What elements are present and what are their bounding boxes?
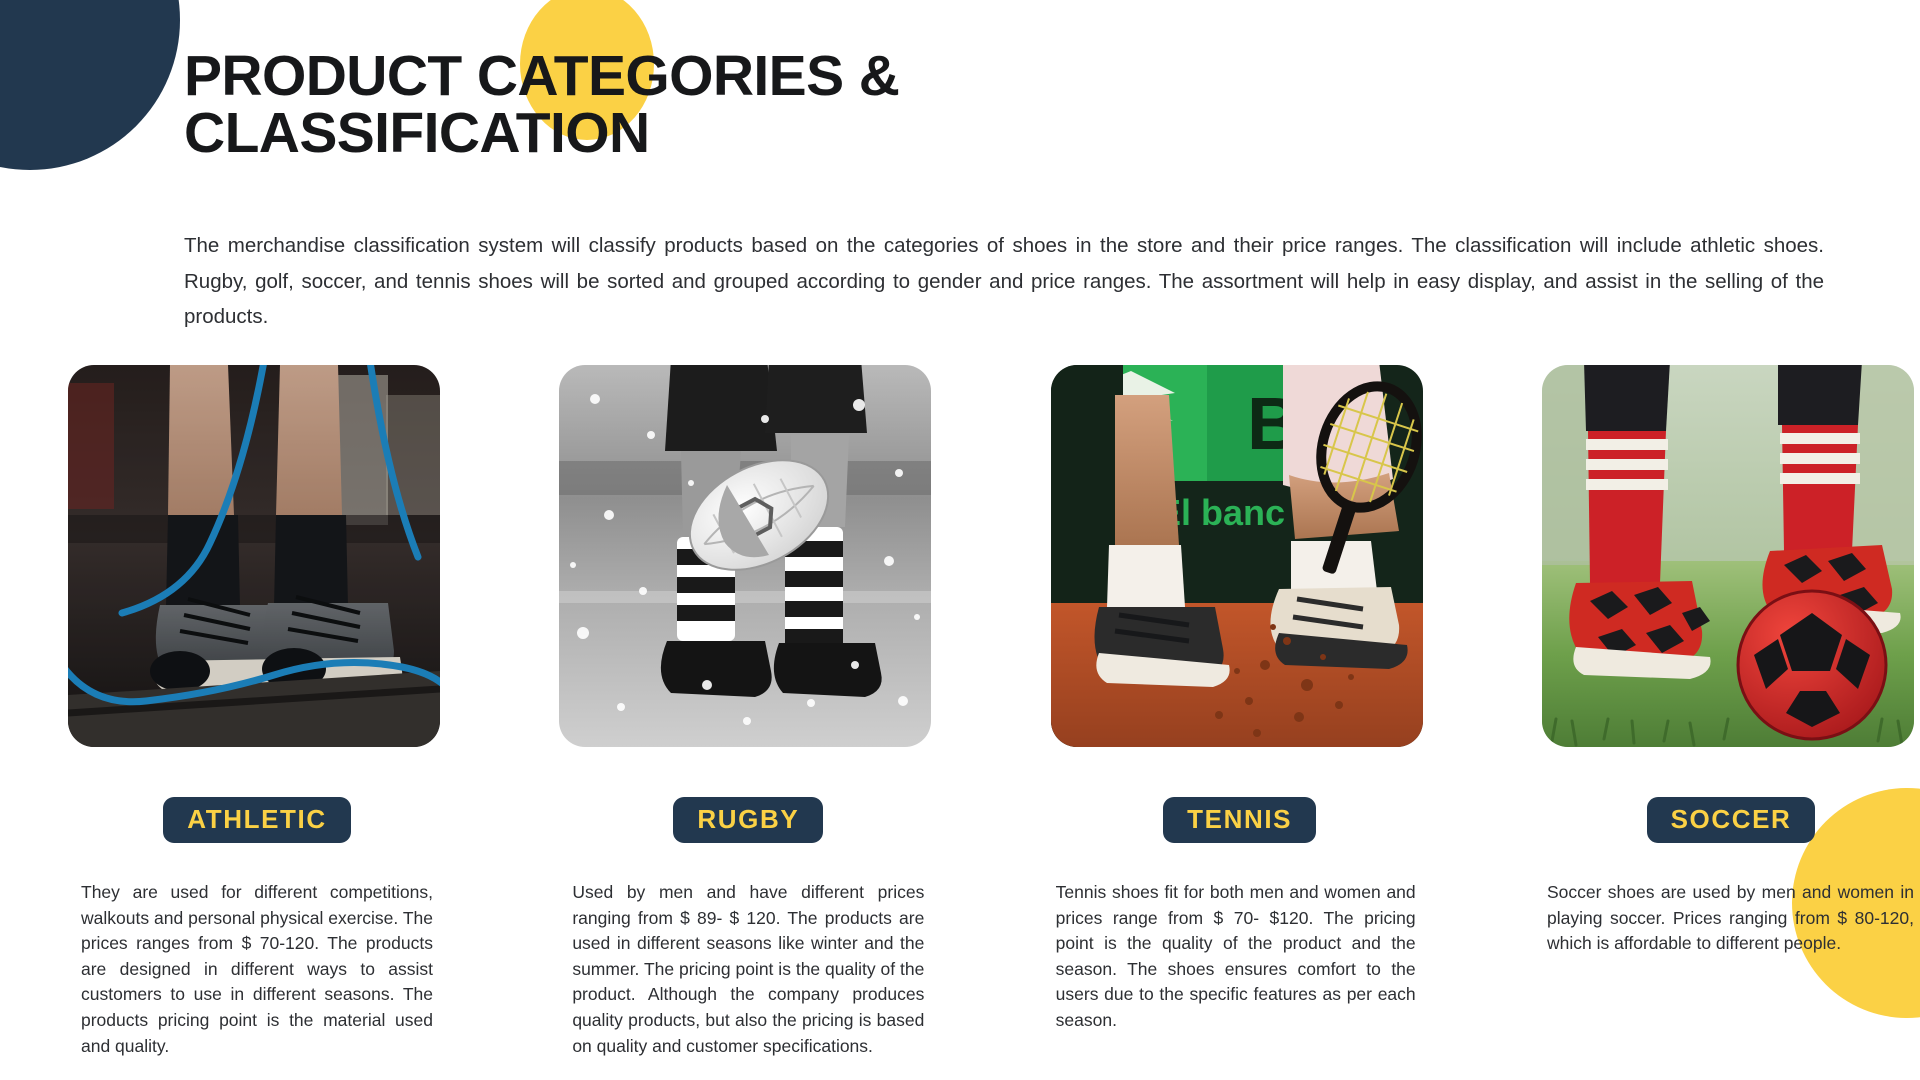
category-badge-rugby: RUGBY (673, 797, 823, 843)
category-card-soccer: SOCCER Soccer shoes are used by men and … (1542, 365, 1920, 1059)
card-description-tennis: Tennis shoes fit for both men and women … (1051, 880, 1429, 1034)
category-card-list: ATHLETIC They are used for different com… (68, 365, 1920, 1059)
badge-row: TENNIS (1051, 797, 1429, 843)
badge-row: RUGBY (559, 797, 937, 843)
category-card-athletic: ATHLETIC They are used for different com… (68, 365, 446, 1059)
page-title: PRODUCT CATEGORIES & CLASSIFICATION (184, 48, 1164, 162)
page-title-line-1: PRODUCT CATEGORIES & (184, 48, 1164, 105)
card-description-rugby: Used by men and have different prices ra… (559, 880, 937, 1059)
category-badge-tennis: TENNIS (1163, 797, 1316, 843)
badge-row: SOCCER (1542, 797, 1920, 843)
athletic-shoes-photo (68, 365, 440, 747)
soccer-shoes-photo (1542, 365, 1914, 747)
tennis-shoes-photo: BN El banc (1051, 365, 1423, 747)
navy-corner-circle (0, 0, 180, 170)
card-description-soccer: Soccer shoes are used by men and women i… (1542, 880, 1920, 957)
category-card-tennis: BN El banc (1051, 365, 1429, 1059)
category-badge-athletic: ATHLETIC (163, 797, 350, 843)
rugby-shoes-photo (559, 365, 931, 747)
page-title-line-2: CLASSIFICATION (184, 105, 1164, 162)
slide-header: PRODUCT CATEGORIES & CLASSIFICATION (184, 48, 1164, 162)
card-description-athletic: They are used for different competitions… (68, 880, 446, 1059)
badge-row: ATHLETIC (68, 797, 446, 843)
intro-paragraph: The merchandise classification system wi… (184, 228, 1824, 335)
category-badge-soccer: SOCCER (1647, 797, 1816, 843)
category-card-rugby: RUGBY Used by men and have different pri… (559, 365, 937, 1059)
